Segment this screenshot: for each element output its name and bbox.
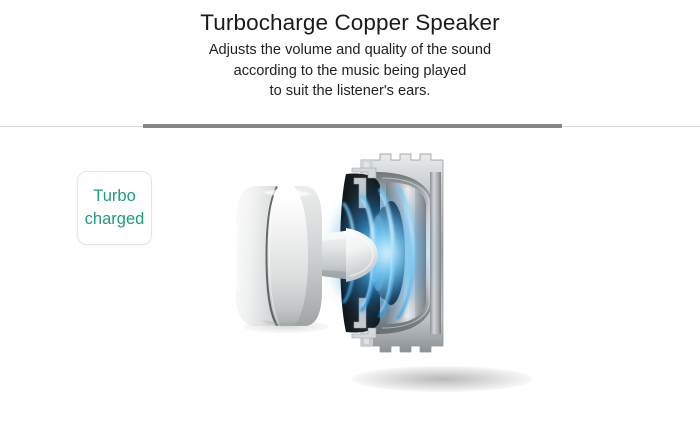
subtitle-line-3: to suit the listener's ears. [0, 81, 700, 102]
divider-thick-bar [143, 124, 562, 128]
product-image-speaker-cutaway [228, 138, 548, 388]
badge-label-line-2: charged [85, 208, 145, 231]
section-divider [0, 124, 700, 130]
subtitle-line-2: according to the music being played [0, 61, 700, 82]
page-title: Turbocharge Copper Speaker [0, 0, 700, 37]
subtitle-line-1: Adjusts the volume and quality of the so… [0, 40, 700, 61]
page-subtitle: Adjusts the volume and quality of the so… [0, 37, 700, 102]
header: Turbocharge Copper Speaker Adjusts the v… [0, 0, 700, 102]
badge-label-line-1: Turbo [93, 185, 136, 208]
turbo-charged-badge: Turbo charged [77, 171, 152, 245]
